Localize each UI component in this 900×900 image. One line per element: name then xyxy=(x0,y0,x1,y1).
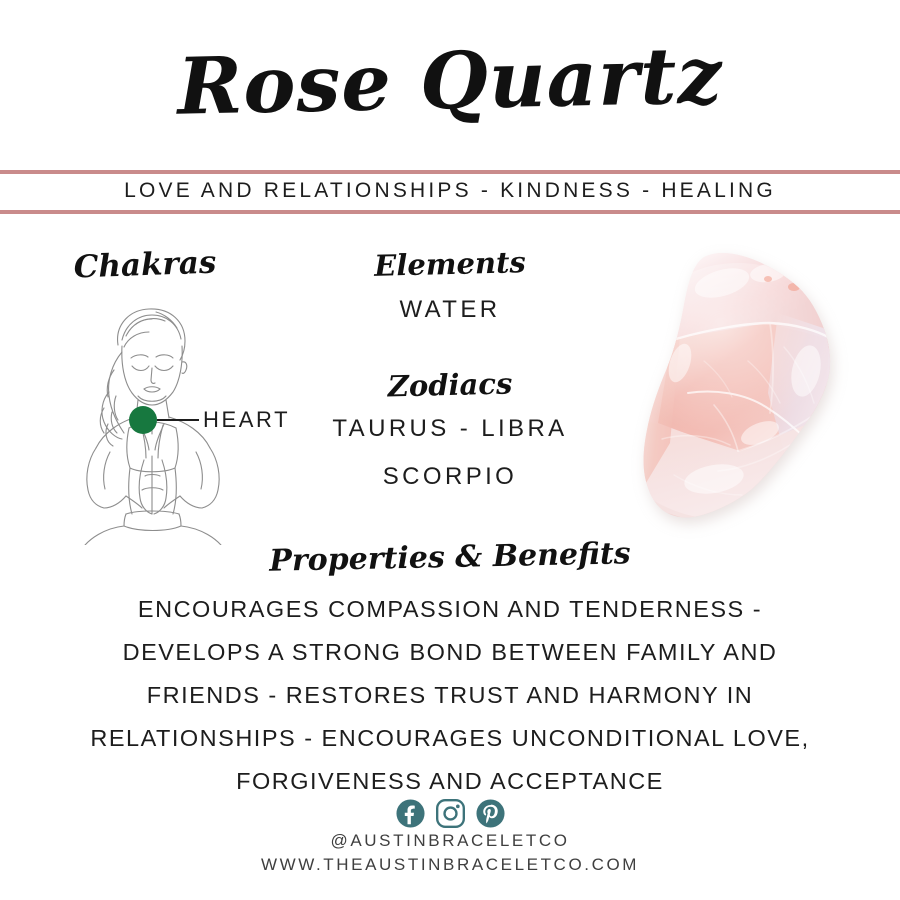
properties-line: ENCOURAGES COMPASSION AND TENDERNESS - xyxy=(40,588,860,631)
properties-line: RELATIONSHIPS - ENCOURAGES UNCONDITIONAL… xyxy=(40,717,860,760)
divider-top xyxy=(0,170,900,174)
elements-heading: Elements xyxy=(305,241,596,286)
heart-chakra-label: HEART xyxy=(203,407,290,433)
instagram-icon[interactable] xyxy=(436,799,465,828)
rose-quartz-crystal-image xyxy=(618,243,900,543)
elements-value: WATER xyxy=(305,294,595,326)
page-title: Rose Quartz xyxy=(0,25,900,140)
social-links xyxy=(0,799,900,828)
facebook-icon[interactable] xyxy=(396,799,425,828)
properties-body: ENCOURAGES COMPASSION AND TENDERNESS - D… xyxy=(40,588,860,803)
subtitle-keywords: LOVE AND RELATIONSHIPS - KINDNESS - HEAL… xyxy=(0,178,900,204)
chakras-heading: Chakras xyxy=(29,241,260,289)
website-url: WWW.THEAUSTINBRACELETCO.COM xyxy=(0,853,900,877)
divider-bottom xyxy=(0,210,900,214)
social-handle: @AUSTINBRACELETCO xyxy=(0,829,900,853)
heart-leader-line xyxy=(157,419,199,421)
zodiacs-heading: Zodiacs xyxy=(305,362,596,407)
zodiacs-line-2: SCORPIO xyxy=(295,460,605,494)
properties-line: FRIENDS - RESTORES TRUST AND HARMONY IN xyxy=(40,674,860,717)
rose-quartz-info-card: Rose Quartz LOVE AND RELATIONSHIPS - KIN… xyxy=(0,0,900,900)
footer: @AUSTINBRACELETCO WWW.THEAUSTINBRACELETC… xyxy=(0,829,900,877)
pinterest-icon[interactable] xyxy=(476,799,505,828)
properties-line: DEVELOPS A STRONG BOND BETWEEN FAMILY AN… xyxy=(40,631,860,674)
properties-heading: Properties & Benefits xyxy=(250,534,651,582)
zodiacs-line-1: TAURUS - LIBRA xyxy=(295,412,605,446)
properties-line: FORGIVENESS AND ACCEPTANCE xyxy=(40,760,860,803)
heart-chakra-dot xyxy=(129,406,157,434)
